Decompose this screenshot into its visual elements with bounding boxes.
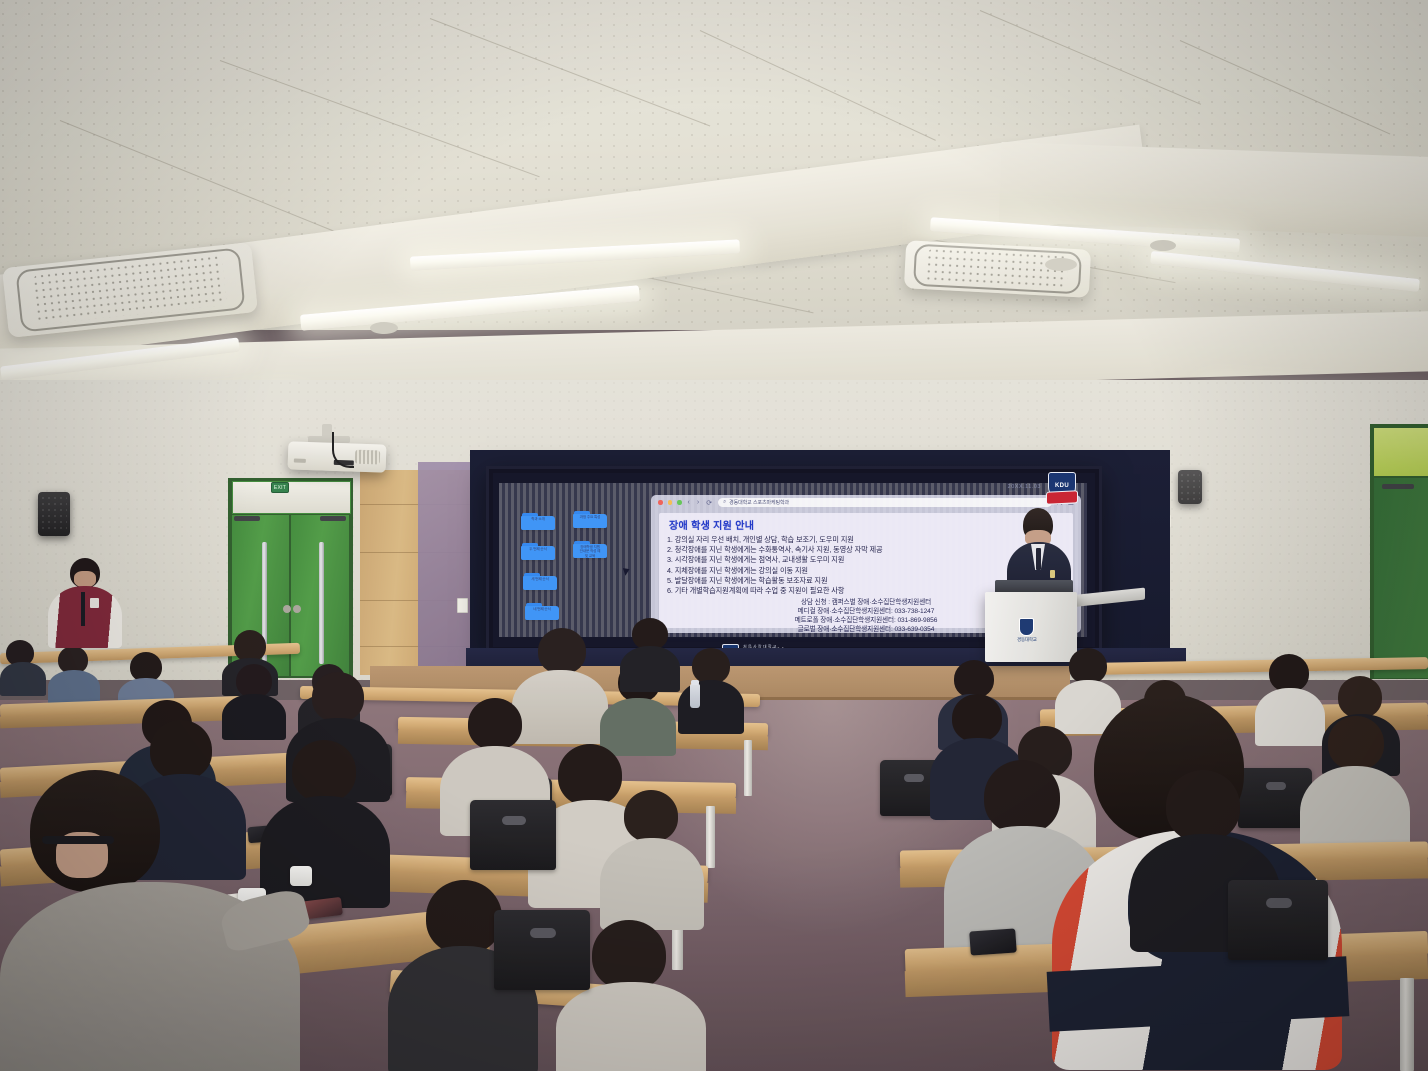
podium-emblem: 경동대학교	[1017, 618, 1037, 643]
door-closer-right	[1382, 484, 1414, 489]
door-closer	[320, 516, 346, 521]
kdu-shield-logo: KDU	[1046, 472, 1076, 506]
folder-label: 세 번째 순서	[523, 577, 557, 581]
door-knob[interactable]	[283, 605, 291, 613]
desktop-folder[interactable]: 두 번째 순서	[521, 543, 555, 551]
desktop-folders-area: 학과 소개 과정 주요 특성 두 번째 순서 장애학생 지원 안내문 작성 예 …	[499, 483, 669, 637]
desktop-folder[interactable]: 장애학생 지원 안내문 작성 예 및 교육	[573, 541, 607, 558]
door-knob[interactable]	[293, 605, 301, 613]
recessed-light	[1045, 258, 1077, 271]
screen-date-overlay: 20XX.11.03	[1008, 484, 1041, 490]
chair[interactable]	[494, 910, 590, 990]
chair[interactable]	[1228, 880, 1328, 960]
exit-sign: EXIT	[271, 482, 289, 493]
reload-icon[interactable]: ⟳	[706, 499, 712, 507]
water-bottle	[690, 684, 700, 708]
chair[interactable]	[470, 800, 556, 870]
desktop-folder[interactable]: 네 번째 순서	[525, 603, 559, 611]
folder-label: 두 번째 순서	[521, 547, 555, 551]
lecture-hall-photo: EXIT 20XX.11.03 학과 소개	[0, 0, 1428, 1071]
student	[0, 640, 46, 690]
door-push-bar[interactable]	[319, 542, 324, 664]
search-icon: ⌕	[723, 499, 726, 506]
smartphone[interactable]	[969, 928, 1017, 955]
recessed-light	[1150, 240, 1176, 251]
presenter-necktie	[1036, 548, 1041, 570]
presenter-badge	[1050, 570, 1055, 578]
bottle-cap	[691, 680, 699, 685]
student	[620, 618, 680, 688]
wall-outlet	[457, 598, 468, 613]
url-text: 경동대학교 스포츠마케팅학과	[729, 499, 789, 506]
mouse-pointer-icon	[623, 566, 631, 575]
door-transom-right	[1374, 428, 1428, 476]
ceiling-beam-right	[999, 142, 1428, 238]
minimize-icon[interactable]	[668, 500, 673, 505]
podium-emblem-text: 경동대학교	[1017, 637, 1037, 643]
door-closer	[234, 516, 260, 521]
kdu-shield-text: KDU	[1055, 483, 1069, 489]
back-icon[interactable]: ‹	[688, 499, 690, 506]
folder-label: 과정 주요 특성	[573, 515, 607, 519]
url-bar[interactable]: ⌕ 경동대학교 스포츠마케팅학과	[718, 498, 1052, 508]
forward-icon[interactable]: ›	[697, 499, 699, 506]
student	[678, 648, 744, 728]
recessed-light	[370, 322, 398, 334]
close-icon[interactable]	[658, 500, 663, 505]
folder-label: 학과 소개	[521, 517, 555, 521]
standing-student	[46, 558, 124, 666]
desktop-folder[interactable]: 학과 소개	[521, 513, 555, 521]
wall-speaker-right	[1178, 470, 1202, 504]
maximize-icon[interactable]	[677, 500, 682, 505]
eyeglasses	[42, 836, 114, 844]
desktop-folder[interactable]: 세 번째 순서	[523, 573, 557, 581]
wall-speaker	[38, 492, 70, 536]
exit-sign-label: EXIT	[274, 485, 286, 491]
desktop-folder[interactable]: 과정 주요 특성	[573, 511, 607, 519]
student	[600, 790, 704, 922]
door-transom-left	[232, 481, 351, 514]
green-door-right[interactable]	[1374, 478, 1428, 678]
folder-label: 장애학생 지원 안내문 작성 예 및 교육	[573, 545, 607, 558]
folder-label: 네 번째 순서	[525, 607, 559, 611]
